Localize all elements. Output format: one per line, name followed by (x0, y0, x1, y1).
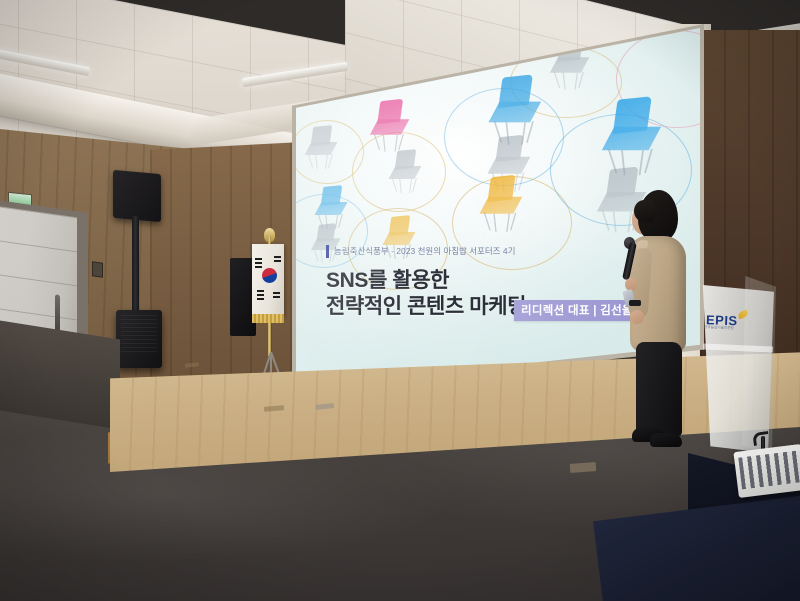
trigram-icon (273, 296, 280, 298)
speaker-grille (121, 315, 157, 354)
trigram-icon (257, 298, 264, 300)
presenter-hand-lower (630, 310, 644, 324)
trigram-icon (255, 266, 262, 268)
trigram-icon (255, 258, 262, 260)
presenter-hair-front (634, 200, 654, 222)
trigram-icon (274, 256, 281, 258)
light-switch-icon[interactable] (92, 261, 103, 278)
slide-accent-bar (326, 245, 329, 258)
trigram-icon (257, 294, 264, 296)
stage-floor-plate (570, 462, 597, 473)
taeguk-symbol-icon (262, 268, 277, 283)
trigram-icon (274, 260, 281, 262)
presenter-trousers (636, 342, 682, 436)
storage-basket (733, 444, 800, 498)
pa-speaker-top (113, 170, 161, 222)
pa-speaker-floor (116, 310, 162, 368)
podium-lectern (700, 285, 774, 453)
microphone-neck-icon (752, 431, 770, 446)
trigram-icon (257, 290, 264, 292)
trigram-icon (273, 292, 280, 294)
photo-scene: 농림축산식품부 - 2023 천원의 아침밥 서포터즈 4기 SNS를 활용한 … (0, 0, 800, 601)
presenter-shoe (650, 433, 682, 447)
korean-flag (252, 244, 284, 316)
presenter-watch (629, 300, 641, 306)
presenter (624, 190, 696, 452)
slide-title-line2: 전략적인 콘텐츠 마케팅 (326, 290, 526, 320)
flag-fringe (252, 314, 284, 323)
trigram-icon (255, 262, 262, 264)
slide-kicker-text: 농림축산식품부 - 2023 천원의 아침밥 서포터즈 4기 (334, 245, 515, 257)
floor-step-left (0, 320, 120, 429)
slide-speaker-badge: 리디렉션 대표 | 김선율 (514, 300, 640, 321)
